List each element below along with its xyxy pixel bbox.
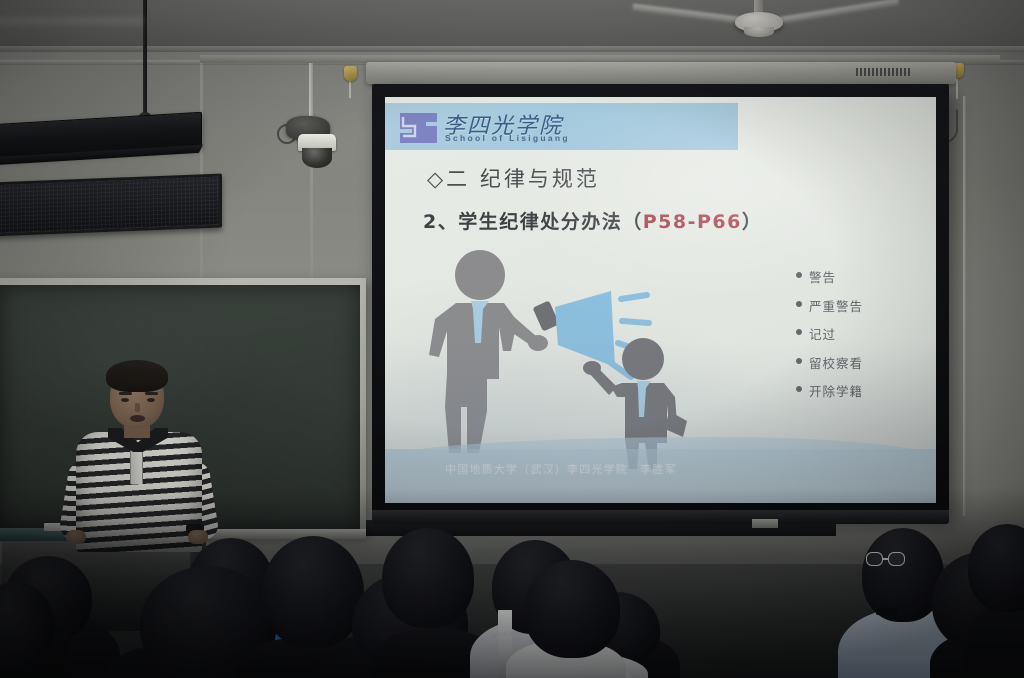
instructor-eye — [147, 398, 155, 402]
classroom-photo-scene: projector-screen-roller-label 李四光学院 Scho… — [0, 0, 1024, 678]
eyeglasses-icon — [866, 552, 906, 568]
student-center-head — [262, 536, 364, 648]
list-item: 开除学籍 — [796, 381, 914, 400]
instructor-eyebrow — [145, 392, 158, 395]
projector-screen-roller-label: projector-screen-roller-label — [856, 68, 912, 76]
list-item: 留校察看 — [796, 353, 914, 372]
slide-page-reference: P58-P66 — [643, 211, 742, 233]
instructor-nose — [135, 403, 140, 412]
bracket-stem — [349, 80, 351, 98]
light-glare — [0, 18, 144, 28]
instructor-eye — [121, 398, 129, 402]
instructor-eyebrow — [119, 392, 132, 395]
slide-logo-english-text: School of Lisiguang — [445, 133, 570, 143]
screen-pull-tab[interactable] — [752, 519, 778, 528]
megaphone-icon — [532, 291, 615, 367]
manager-with-megaphone — [429, 250, 548, 453]
instructor-hand — [66, 530, 86, 544]
student-center-3-head — [382, 528, 474, 628]
list-item: 严重警告 — [796, 296, 914, 315]
slide-heading-2-prefix: 2、学生纪律处分办法（ — [423, 211, 643, 233]
list-item: 警告 — [796, 267, 914, 286]
instructor-mouth — [130, 415, 145, 422]
slide-heading-2: 2、学生纪律处分办法（P58-P66） — [423, 207, 762, 234]
slide-surface: 李四光学院 School of Lisiguang ◇二 纪律与规范 2、学生纪… — [385, 97, 936, 503]
liside-logo-icon — [397, 111, 439, 145]
bracket-stem — [956, 77, 958, 99]
hanging-light-fixture-lower — [0, 174, 222, 237]
instructor-hand — [188, 530, 208, 544]
instructor-hair — [106, 360, 168, 392]
wall-conduit — [963, 96, 966, 516]
ceiling-fan-cap — [744, 27, 774, 37]
camera-dome-lens — [302, 148, 332, 168]
camera-mount-pipe — [309, 62, 313, 118]
student-pale-shirt-3-head — [524, 560, 620, 658]
list-item: 记过 — [796, 324, 914, 343]
projection-screen[interactable]: 李四光学院 School of Lisiguang ◇二 纪律与规范 2、学生纪… — [372, 84, 949, 518]
instructor — [62, 358, 222, 558]
shirt-clip-badge — [876, 608, 898, 615]
slide-heading-1: ◇二 纪律与规范 — [427, 163, 600, 193]
punishment-list: 警告 严重警告 记过 留校察看 开除学籍 — [796, 267, 914, 410]
projector-screen-roller[interactable]: projector-screen-roller-label — [366, 62, 956, 84]
slide-footer-text: 中国地质大学（武汉）李四光学院 李胜军 — [445, 461, 677, 477]
screen-bottom-weight-bar — [372, 510, 949, 524]
brass-bracket-icon — [344, 66, 357, 81]
slide-heading-2-suffix: ） — [742, 211, 763, 233]
